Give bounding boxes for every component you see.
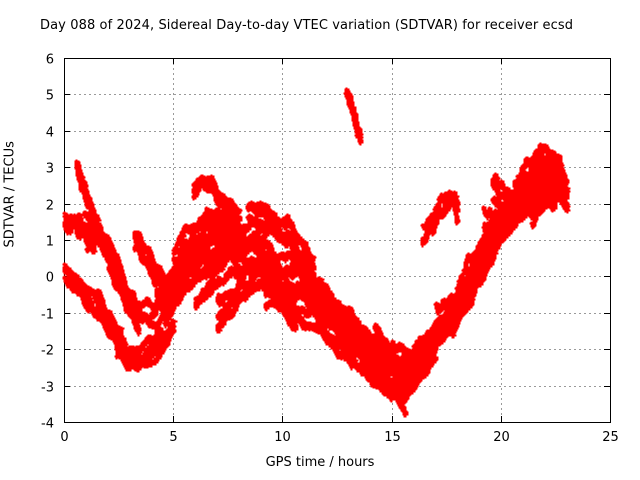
chart-figure: Day 088 of 2024, Sidereal Day-to-day VTE… bbox=[0, 0, 640, 480]
svg-text:0: 0 bbox=[46, 271, 54, 286]
svg-text:5: 5 bbox=[169, 430, 177, 445]
svg-text:6: 6 bbox=[46, 53, 54, 68]
svg-text:-3: -3 bbox=[41, 381, 54, 396]
x-axis-label: GPS time / hours bbox=[0, 455, 640, 470]
svg-text:5: 5 bbox=[46, 89, 54, 104]
svg-text:25: 25 bbox=[602, 430, 619, 445]
data-markers bbox=[63, 88, 571, 418]
svg-text:-4: -4 bbox=[41, 417, 54, 432]
svg-text:4: 4 bbox=[46, 126, 54, 141]
svg-text:0: 0 bbox=[60, 430, 68, 445]
y-axis-label: SDTVAR / TECUs bbox=[3, 141, 18, 247]
svg-text:10: 10 bbox=[274, 430, 291, 445]
svg-text:-1: -1 bbox=[41, 308, 54, 323]
svg-text:3: 3 bbox=[46, 162, 54, 177]
svg-text:1: 1 bbox=[46, 235, 54, 250]
plot-frame bbox=[65, 59, 611, 423]
scatter-plot: -4-3-2-101234560510152025 bbox=[0, 0, 640, 480]
svg-text:20: 20 bbox=[493, 430, 510, 445]
svg-text:-2: -2 bbox=[41, 344, 54, 359]
svg-text:2: 2 bbox=[46, 199, 54, 214]
svg-text:15: 15 bbox=[384, 430, 401, 445]
